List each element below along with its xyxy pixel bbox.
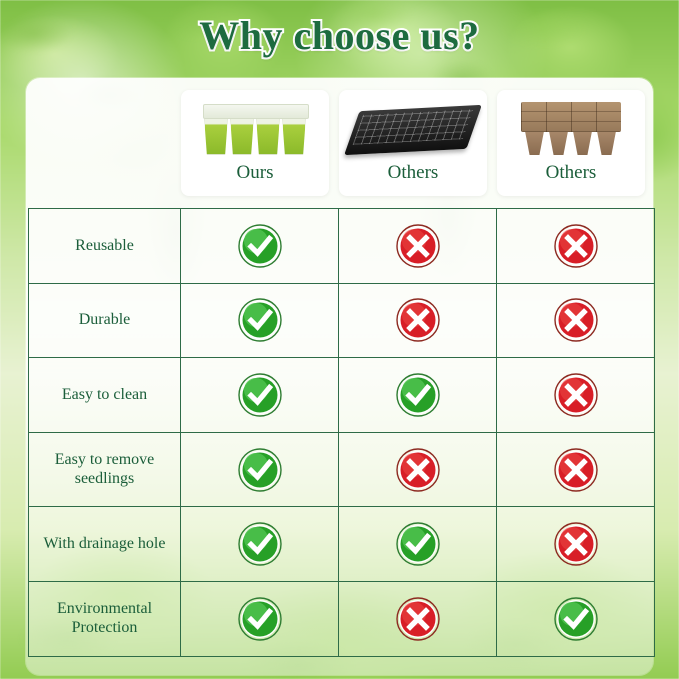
mark-cell-others1 [339,581,497,656]
cross-icon [554,373,598,417]
mark-cell-others2 [497,432,655,507]
mark-cell-others2 [497,283,655,358]
cross-icon [396,448,440,492]
mark-cell-ours [181,432,339,507]
column-header-ours[interactable]: Ours [181,90,329,196]
check-icon [554,597,598,641]
table-row: Easy to clean [29,358,655,433]
check-icon [238,373,282,417]
table-row: Reusable [29,209,655,284]
cross-icon [554,448,598,492]
mark-cell-ours [181,209,339,284]
table-row: Easy to remove seedlings [29,432,655,507]
cross-icon [396,298,440,342]
feature-label: Easy to clean [29,386,180,404]
cross-icon [554,522,598,566]
mark-cell-others1 [339,209,497,284]
feature-label: Durable [29,311,180,329]
check-icon [238,448,282,492]
mark-cell-others2 [497,358,655,433]
check-icon [238,597,282,641]
feature-cell: With drainage hole [29,507,181,582]
cross-icon [396,224,440,268]
mark-cell-others1 [339,358,497,433]
check-icon [396,373,440,417]
check-icon [238,522,282,566]
feature-label: Reusable [29,237,180,255]
mark-cell-others2 [497,581,655,656]
feature-cell: Easy to remove seedlings [29,432,181,507]
mark-cell-ours [181,581,339,656]
feature-cell: Durable [29,283,181,358]
cross-icon [554,298,598,342]
clear-plastic-seed-tray-icon [185,92,325,160]
mark-cell-others1 [339,432,497,507]
black-plug-tray-icon [343,92,483,160]
table-row: With drainage hole [29,507,655,582]
page-title: Why choose us? [0,12,679,59]
mark-cell-others2 [497,507,655,582]
feature-label: With drainage hole [29,535,180,553]
table-row: Environmental Protection [29,581,655,656]
mark-cell-others1 [339,507,497,582]
column-header-label-others-1: Others [388,163,439,182]
feature-label: Environmental Protection [29,600,180,637]
feature-cell: Reusable [29,209,181,284]
feature-cell: Easy to clean [29,358,181,433]
mark-cell-ours [181,358,339,433]
comparison-table: ReusableDurableEasy to cleanEasy to remo… [28,208,655,657]
mark-cell-others1 [339,283,497,358]
table-row: Durable [29,283,655,358]
comparison-infographic: Why choose us? Ours [0,0,679,679]
feature-cell: Environmental Protection [29,581,181,656]
cross-icon [396,597,440,641]
check-icon [238,224,282,268]
mark-cell-others2 [497,209,655,284]
column-header-others-2[interactable]: Others [497,90,645,196]
check-icon [238,298,282,342]
column-header-label-others-2: Others [546,163,597,182]
mark-cell-ours [181,283,339,358]
cross-icon [554,224,598,268]
mark-cell-ours [181,507,339,582]
feature-label: Easy to remove seedlings [29,451,180,488]
column-header-others-1[interactable]: Others [339,90,487,196]
column-header-label-ours: Ours [237,163,274,182]
check-icon [396,522,440,566]
peat-pot-tray-icon [501,92,641,160]
